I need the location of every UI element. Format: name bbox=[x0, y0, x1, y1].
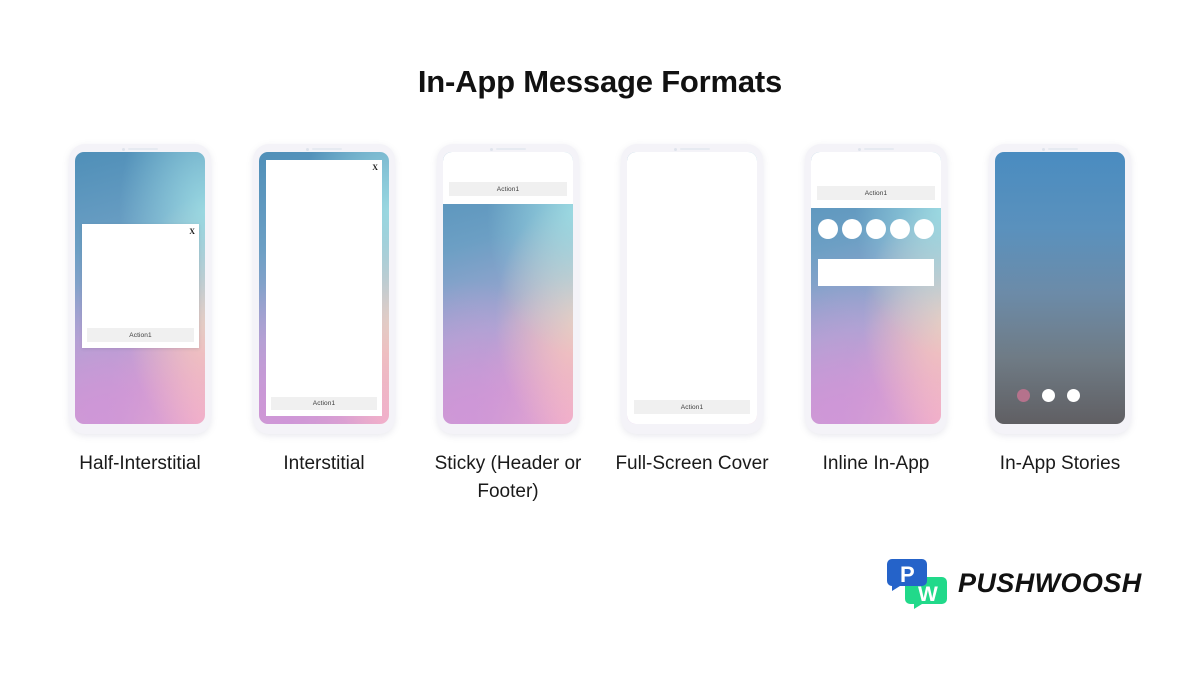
speaker-grille-icon bbox=[680, 148, 710, 151]
page-title: In-App Message Formats bbox=[0, 64, 1200, 100]
pushwoosh-logo-mark-icon: P W bbox=[886, 557, 948, 609]
inline-circle-item[interactable] bbox=[890, 219, 910, 239]
phone-screen: Action1 bbox=[627, 152, 757, 424]
inline-circle-item[interactable] bbox=[866, 219, 886, 239]
phone-screen: X Action1 bbox=[75, 152, 205, 424]
format-card-full-screen-cover: Action1 bbox=[612, 144, 772, 434]
phone-notch bbox=[666, 147, 718, 151]
pushwoosh-logo: P W PUSHWOOSH bbox=[886, 554, 1106, 612]
format-card-inline-in-app: Action1 bbox=[796, 144, 956, 434]
story-dot[interactable] bbox=[1067, 389, 1080, 402]
action-button[interactable]: Action1 bbox=[449, 182, 567, 196]
caption-inline-in-app: Inline In-App bbox=[796, 450, 956, 505]
phone-screen: Action1 bbox=[443, 152, 573, 424]
phone-notch bbox=[850, 147, 902, 151]
inline-circle-item[interactable] bbox=[842, 219, 862, 239]
inline-header-banner: Action1 bbox=[811, 152, 941, 208]
sticky-header-banner: Action1 bbox=[443, 152, 573, 204]
format-caption-row: Half-Interstitial Interstitial Sticky (H… bbox=[60, 450, 1140, 505]
phone-frame: Action1 bbox=[437, 144, 579, 434]
phone-screen: X Action1 bbox=[259, 152, 389, 424]
phone-frame: X Action1 bbox=[253, 144, 395, 434]
pushwoosh-wordmark: PUSHWOOSH bbox=[958, 568, 1142, 599]
speaker-grille-icon bbox=[864, 148, 894, 151]
speaker-grille-icon bbox=[312, 148, 342, 151]
inline-circle-item[interactable] bbox=[818, 219, 838, 239]
phone-mockup-row: X Action1 X Action1 bbox=[60, 144, 1140, 444]
svg-text:W: W bbox=[918, 583, 938, 606]
format-card-half-interstitial: X Action1 bbox=[60, 144, 220, 434]
inline-circle-row bbox=[818, 218, 934, 240]
caption-sticky: Sticky (Header or Footer) bbox=[428, 450, 588, 505]
format-card-sticky: Action1 bbox=[428, 144, 588, 434]
story-dot-row bbox=[1017, 389, 1080, 402]
inline-content-bar bbox=[818, 259, 934, 286]
camera-dot-icon bbox=[674, 148, 677, 151]
format-card-in-app-stories bbox=[980, 144, 1140, 434]
story-dot[interactable] bbox=[1042, 389, 1055, 402]
action-button[interactable]: Action1 bbox=[817, 186, 935, 200]
speaker-grille-icon bbox=[128, 148, 158, 151]
svg-text:P: P bbox=[900, 562, 915, 587]
format-card-interstitial: X Action1 bbox=[244, 144, 404, 434]
story-dot-active[interactable] bbox=[1017, 389, 1030, 402]
phone-frame: X Action1 bbox=[69, 144, 211, 434]
caption-half-interstitial: Half-Interstitial bbox=[60, 450, 220, 505]
camera-dot-icon bbox=[1042, 148, 1045, 151]
camera-dot-icon bbox=[490, 148, 493, 151]
phone-notch bbox=[298, 147, 350, 151]
phone-frame: Action1 bbox=[621, 144, 763, 434]
phone-frame bbox=[989, 144, 1131, 434]
camera-dot-icon bbox=[122, 148, 125, 151]
camera-dot-icon bbox=[306, 148, 309, 151]
phone-notch bbox=[482, 147, 534, 151]
phone-notch bbox=[114, 147, 166, 151]
camera-dot-icon bbox=[858, 148, 861, 151]
phone-notch bbox=[1034, 147, 1086, 151]
action-button[interactable]: Action1 bbox=[87, 328, 194, 342]
phone-screen bbox=[995, 152, 1125, 424]
caption-interstitial: Interstitial bbox=[244, 450, 404, 505]
inline-circle-item[interactable] bbox=[914, 219, 934, 239]
phone-frame: Action1 bbox=[805, 144, 947, 434]
speaker-grille-icon bbox=[1048, 148, 1078, 151]
full-screen-cover-sheet: Action1 bbox=[627, 152, 757, 424]
action-button[interactable]: Action1 bbox=[634, 400, 750, 414]
caption-full-screen-cover: Full-Screen Cover bbox=[612, 450, 772, 505]
caption-in-app-stories: In-App Stories bbox=[980, 450, 1140, 505]
interstitial-card: X Action1 bbox=[266, 160, 382, 416]
action-button[interactable]: Action1 bbox=[271, 397, 377, 410]
half-interstitial-card: X Action1 bbox=[82, 224, 199, 348]
phone-screen: Action1 bbox=[811, 152, 941, 424]
close-icon[interactable]: X bbox=[372, 164, 378, 172]
close-icon[interactable]: X bbox=[189, 228, 195, 236]
speaker-grille-icon bbox=[496, 148, 526, 151]
